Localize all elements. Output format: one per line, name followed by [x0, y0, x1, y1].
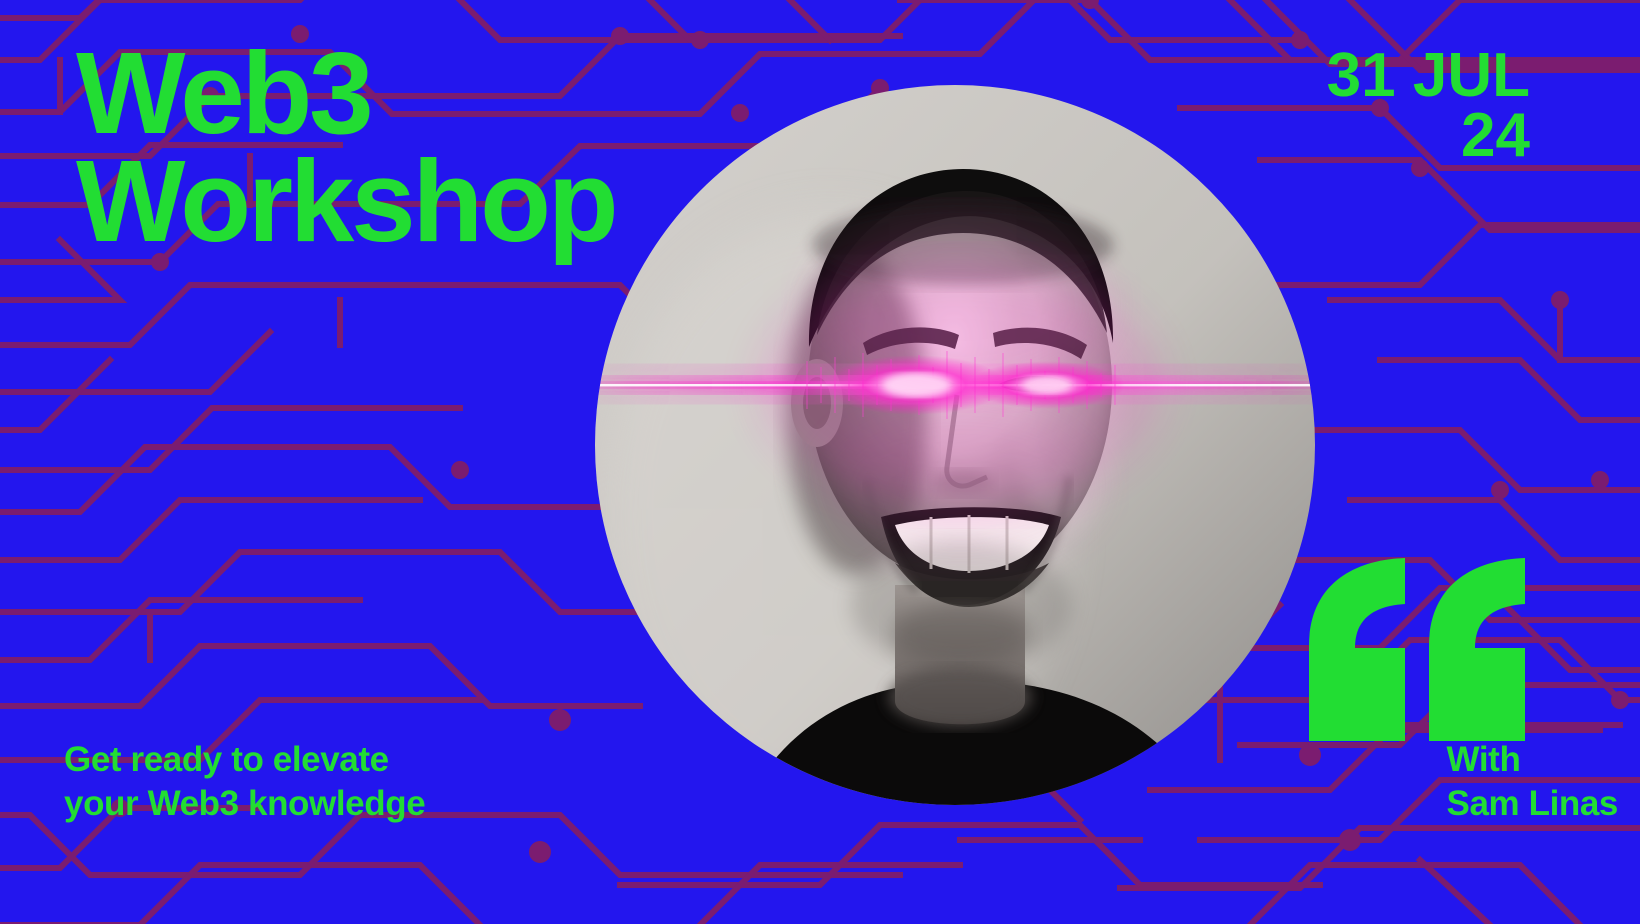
event-date-line2: 24 [1327, 106, 1530, 166]
tagline: Get ready to elevate your Web3 knowledge [64, 738, 425, 826]
speaker-credit: With Sam Linas [1447, 738, 1618, 826]
speaker-portrait [595, 85, 1315, 805]
poster-canvas: Web3 Workshop 31 JUL 24 Get ready to ele… [0, 0, 1640, 924]
event-date: 31 JUL 24 [1327, 46, 1530, 165]
page-title: Web3 Workshop [76, 40, 615, 256]
double-quote-open-icon [1305, 556, 1525, 741]
event-date-line1: 31 JUL [1327, 46, 1530, 106]
